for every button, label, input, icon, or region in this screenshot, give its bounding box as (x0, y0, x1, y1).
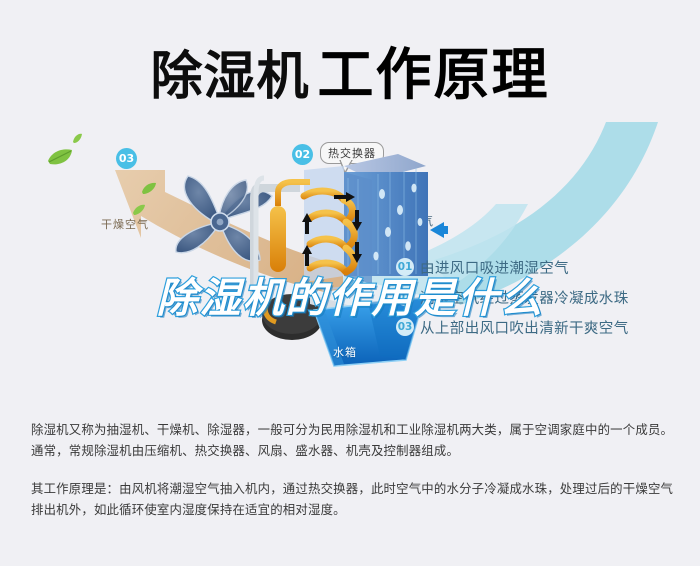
leaf-icon (132, 204, 146, 216)
dry-air-badge: 03 (116, 148, 137, 169)
infographic-page: 除湿机工作原理 03 干燥空气 (0, 0, 700, 566)
water-tank-label: 水箱 (333, 344, 357, 360)
page-title-part2: 工作原理 (318, 43, 550, 108)
dry-air-label: 干燥空气 (101, 216, 149, 232)
body-paragraph-2: 其工作原理是：由风机将潮湿空气抽入机内，通过热交换器，此时空气中的水分子冷凝成水… (31, 478, 676, 520)
leaf-icon (47, 148, 73, 166)
page-title: 除湿机工作原理 (0, 30, 700, 111)
leaf-icon (141, 182, 157, 195)
body-paragraph-1: 除湿机又称为抽湿机、干燥机、除湿器，一般可分为民用除湿机和工业除湿机两大类，属于… (31, 419, 676, 461)
leaf-icon (72, 133, 83, 144)
page-title-part1: 除湿机 (150, 47, 309, 107)
watermark-title: 除湿机的作用是什么 (0, 264, 700, 324)
article-body: 除湿机又称为抽湿机、干燥机、除湿器，一般可分为民用除湿机和工业除湿机两大类，属于… (31, 419, 676, 520)
